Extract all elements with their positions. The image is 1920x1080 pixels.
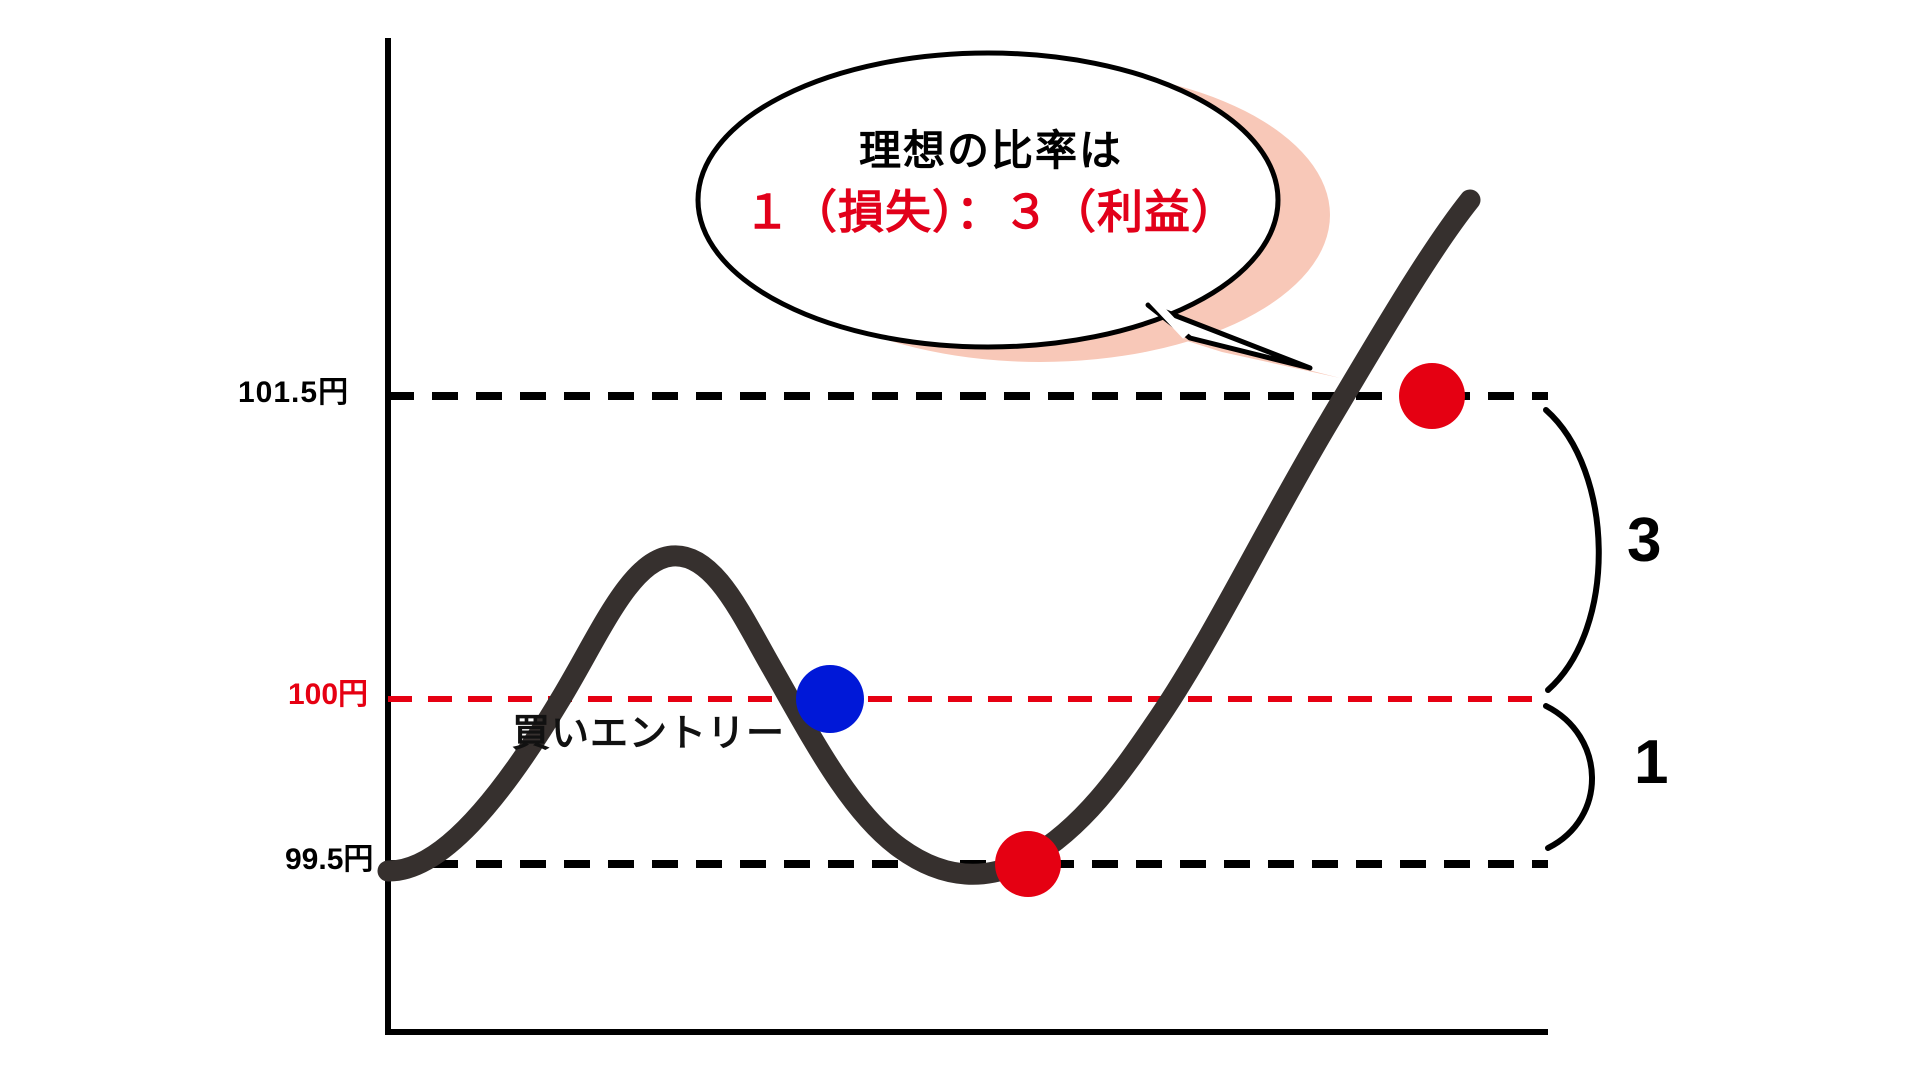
markers — [796, 363, 1465, 897]
risk-brace-icon — [1546, 706, 1592, 848]
y-tick-label-99-5: 99.5円 — [285, 845, 373, 875]
y-tick-label-100: 100円 — [288, 680, 368, 710]
y-tick-label-101-5: 101.5円 — [238, 378, 349, 408]
reward-brace-icon — [1546, 410, 1599, 690]
buy-entry-marker — [796, 665, 864, 733]
callout-text: 理想の比率は １（損失）：３（利益） — [726, 125, 1256, 240]
stop-loss-marker — [995, 831, 1061, 897]
take-profit-marker — [1399, 363, 1465, 429]
risk-ratio-label: 1 — [1634, 732, 1668, 794]
reward-ratio-label: 3 — [1627, 510, 1661, 572]
level-lines — [388, 396, 1548, 864]
callout-line-2: １（損失）：３（利益） — [726, 184, 1256, 240]
brace-group — [1546, 410, 1599, 848]
chart-canvas: 理想の比率は １（損失）：３（利益） 101.5円 100円 99.5円 買いエ… — [0, 0, 1920, 1080]
callout-line-1: 理想の比率は — [726, 125, 1256, 176]
buy-entry-label: 買いエントリー — [512, 715, 785, 753]
